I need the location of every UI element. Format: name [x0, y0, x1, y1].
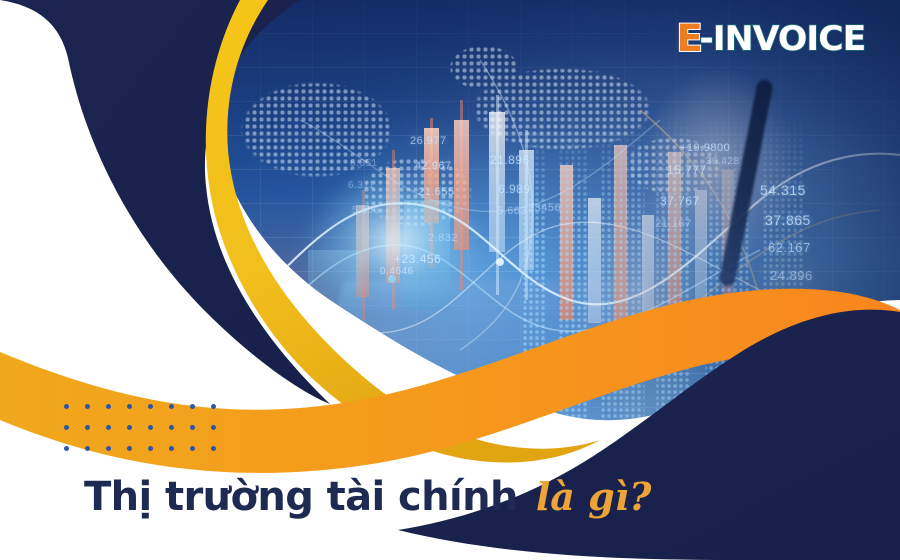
financial-number: 62.167: [768, 240, 811, 255]
grid-dot: [106, 425, 111, 430]
grid-dot: [211, 446, 216, 451]
grid-dot: [85, 446, 90, 451]
grid-dot: [148, 446, 153, 451]
financial-number: +23.456: [394, 252, 441, 266]
financial-number: 2.832: [428, 232, 458, 244]
grid-dot: [169, 446, 174, 451]
grid-dot: [127, 446, 132, 451]
financial-number: 21.896: [490, 153, 530, 167]
grid-dot: [148, 404, 153, 409]
grid-dot: [64, 404, 69, 409]
grid-dot: [148, 425, 153, 430]
financial-number: 26.977: [410, 135, 447, 147]
grid-dot: [106, 446, 111, 451]
financial-number: 6.351: [350, 158, 378, 169]
financial-number: 54.315: [760, 182, 806, 198]
headline: Thị trường tài chính là gì?: [84, 474, 651, 520]
headline-accent-text: là gì?: [536, 474, 652, 519]
financial-number: 21.167: [655, 218, 692, 230]
grid-dot: [85, 425, 90, 430]
financial-number: 0.4646: [380, 266, 414, 277]
financial-number: 36.428: [706, 156, 740, 167]
financial-number: 5.663: [497, 205, 527, 217]
grid-dot: [85, 404, 90, 409]
grid-dot: [190, 446, 195, 451]
financial-number: 15.777: [667, 163, 707, 177]
financial-number: 37.767: [660, 194, 700, 208]
grid-dot: [190, 404, 195, 409]
grid-dot: [64, 425, 69, 430]
financial-number: 23456: [528, 202, 561, 214]
grid-dot: [127, 404, 132, 409]
logo-mark-e: E: [676, 20, 701, 57]
grid-dot: [169, 404, 174, 409]
headline-main-text: Thị trường tài chính: [84, 474, 518, 520]
financial-number: 6.989: [498, 182, 531, 196]
banner: 26.97742.96721.65521.8966.9895.66323456+…: [0, 0, 900, 560]
financial-number: 42.967: [415, 160, 452, 172]
center-glow: [306, 166, 486, 316]
financial-number: +19.9800: [680, 142, 730, 154]
grid-dot: [211, 425, 216, 430]
grid-dot: [169, 425, 174, 430]
decorative-dot-grid: [64, 404, 232, 467]
financial-number: 21.655: [418, 186, 455, 198]
financial-number: 5.556: [352, 205, 380, 216]
logo[interactable]: E -INVOICE: [677, 20, 864, 57]
financial-number: 24.896: [770, 268, 813, 283]
grid-dot: [190, 425, 195, 430]
grid-dot: [106, 404, 111, 409]
grid-dot: [64, 446, 69, 451]
logo-wordmark: -INVOICE: [700, 22, 866, 56]
grid-dot: [211, 404, 216, 409]
financial-number: 37.865: [765, 212, 811, 228]
financial-number: 6.311: [348, 180, 375, 191]
grid-dot: [127, 425, 132, 430]
